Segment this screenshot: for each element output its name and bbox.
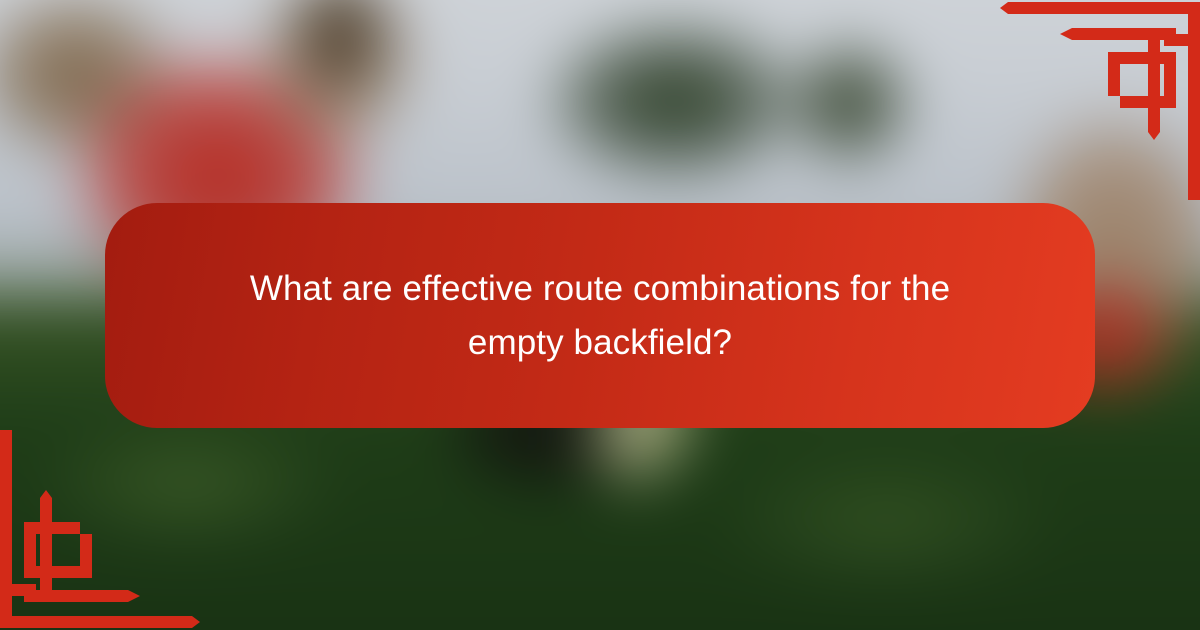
background-grass-highlight-left [28, 416, 346, 554]
poster-canvas: What are effective route combinations fo… [0, 0, 1200, 630]
background-grass-highlight-right [706, 448, 1066, 596]
question-card: What are effective route combinations fo… [105, 203, 1095, 428]
background-foliage-right [780, 34, 918, 172]
background-foliage-center [536, 13, 812, 188]
question-text: What are effective route combinations fo… [235, 262, 965, 368]
